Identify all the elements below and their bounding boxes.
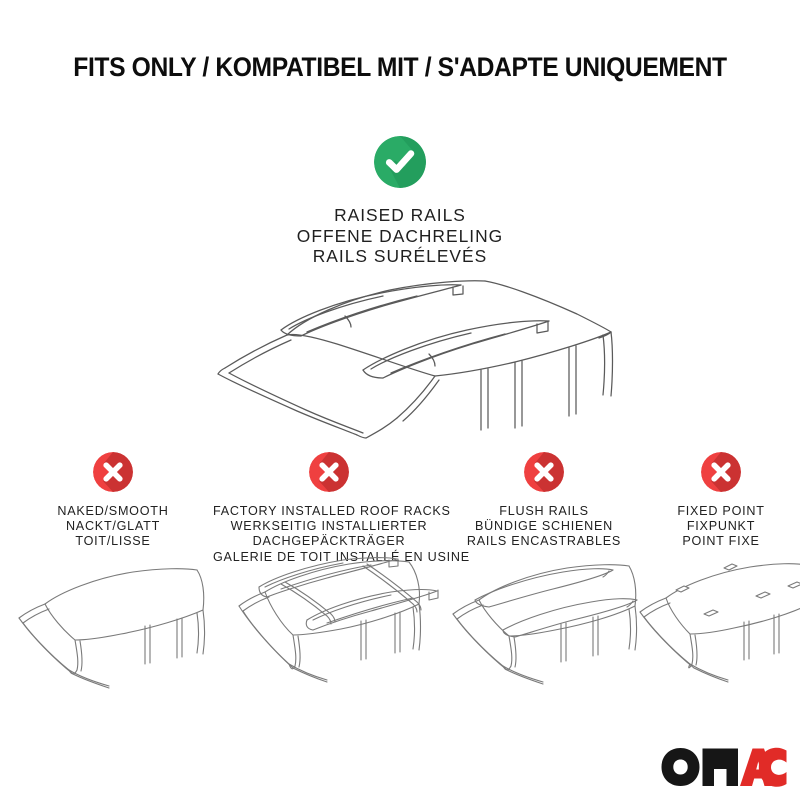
car-roof-raised-rails-illustration (185, 278, 615, 458)
page-title: FITS ONLY / KOMPATIBEL MIT / S'ADAPTE UN… (28, 52, 772, 83)
logo-letter-m (703, 749, 739, 787)
hero-label-fr: RAILS SURÉLEVÉS (297, 246, 503, 267)
incompatible-options-row: NAKED/SMOOTH NACKT/GLATT TOIT/LISSE (0, 452, 800, 792)
compatible-section: RAISED RAILS OFFENE DACHRELING RAILS SUR… (0, 136, 800, 267)
option-labels: NAKED/SMOOTH NACKT/GLATT TOIT/LISSE (13, 504, 213, 550)
option-flush-rails: FLUSH RAILS BÜNDIGE SCHIENEN RAILS ENCAS… (448, 452, 640, 550)
option-label-de-1: WERKSEITIG INSTALLIERTER (213, 519, 445, 534)
logo-letter-o (662, 748, 700, 786)
option-labels: FIXED POINT FIXPUNKT POINT FIXE (642, 504, 800, 550)
option-label-fr: TOIT/LISSE (13, 534, 213, 549)
x-circle-icon (701, 452, 741, 492)
car-roof-naked-smooth-illustration (9, 562, 217, 692)
option-label-fr: POINT FIXE (642, 534, 800, 549)
hero-label-en: RAISED RAILS (297, 205, 503, 226)
option-labels: FLUSH RAILS BÜNDIGE SCHIENEN RAILS ENCAS… (448, 504, 640, 550)
check-circle-icon (374, 136, 426, 188)
option-label-de: BÜNDIGE SCHIENEN (448, 519, 640, 534)
option-label-de: NACKT/GLATT (13, 519, 213, 534)
option-label-en: FLUSH RAILS (448, 504, 640, 519)
option-label-de-2: DACHGEPÄCKTRÄGER (213, 534, 445, 549)
hero-label-de: OFFENE DACHRELING (297, 226, 503, 247)
compatible-labels: RAISED RAILS OFFENE DACHRELING RAILS SUR… (297, 205, 503, 267)
option-label-en: FIXED POINT (642, 504, 800, 519)
omac-logo (660, 746, 788, 788)
x-circle-icon (524, 452, 564, 492)
x-circle-icon (93, 452, 133, 492)
car-roof-flush-rails-illustration (441, 558, 647, 690)
option-label-en: FACTORY INSTALLED ROOF RACKS (213, 504, 445, 519)
option-label-en: NAKED/SMOOTH (13, 504, 213, 519)
option-label-fr: RAILS ENCASTRABLES (448, 534, 640, 549)
option-naked-smooth: NAKED/SMOOTH NACKT/GLATT TOIT/LISSE (13, 452, 213, 550)
x-circle-icon (309, 452, 349, 492)
option-label-de: FIXPUNKT (642, 519, 800, 534)
option-factory-installed-roof-racks: FACTORY INSTALLED ROOF RACKS WERKSEITIG … (213, 452, 445, 565)
option-fixed-point: FIXED POINT FIXPUNKT POINT FIXE (642, 452, 800, 550)
car-roof-fixed-point-illustration (632, 558, 800, 690)
car-roof-factory-racks-illustration (215, 556, 443, 694)
